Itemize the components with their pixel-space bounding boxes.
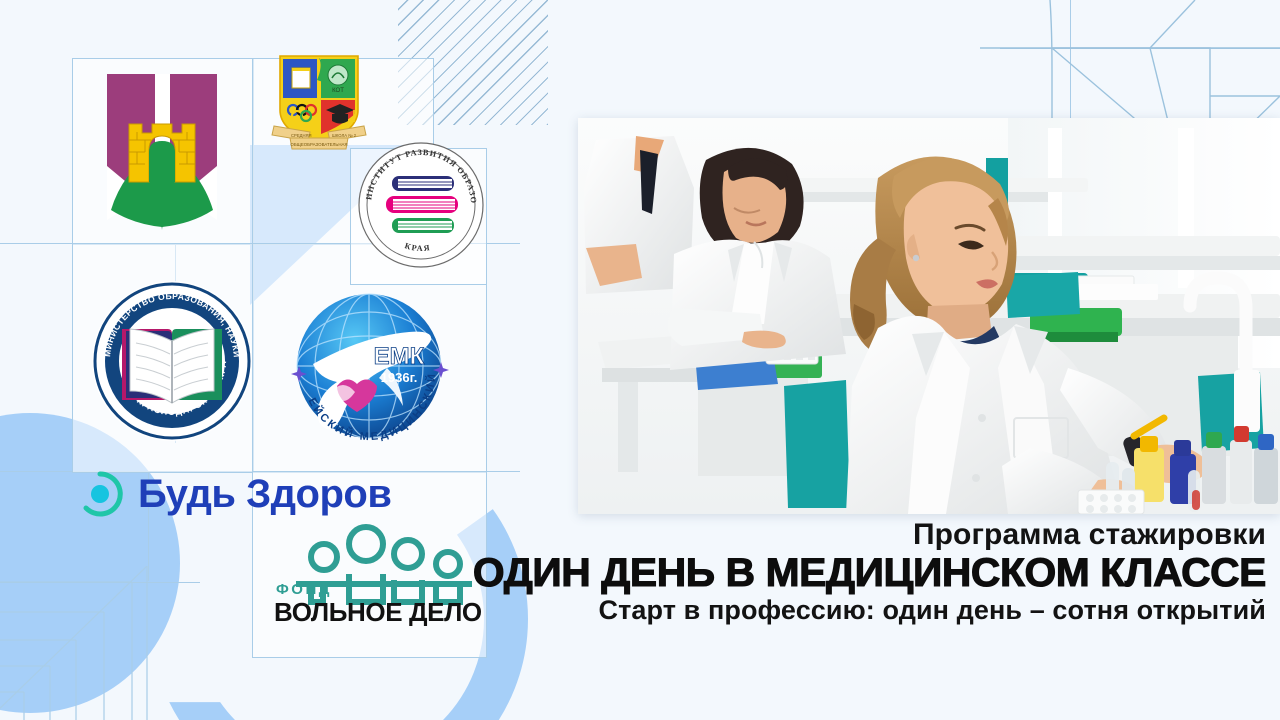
- bud-zdorov-wordmark: Будь Здоров: [138, 474, 391, 514]
- svg-text:ОБЩЕОБРАЗОВАТЕЛЬНАЯ: ОБЩЕОБРАЗОВАТЕЛЬНАЯ: [290, 142, 347, 147]
- program-title: ОДИН ДЕНЬ В МЕДИЦИНСКОМ КЛАССЕ: [266, 553, 1266, 593]
- poster-canvas: КОТ СРЕДНЯЯ ШКОЛА № 2 ОБЩЕОБРАЗОВАТЕЛЬНА…: [0, 0, 1280, 720]
- bud-zdorov-ring-icon: [74, 468, 126, 520]
- logo-coat-of-arms-krasnodar-icon: [103, 70, 221, 230]
- svg-text:ЕМК: ЕМК: [374, 343, 425, 370]
- logo-bud-zdorov: Будь Здоров: [74, 466, 364, 522]
- decor-lineart-bottomleft: [0, 566, 242, 720]
- program-subtitle: Старт в профессию: один день – сотня отк…: [286, 596, 1266, 624]
- logo-ministry-education-krasnodar-icon: МИНИСТЕРСТВО ОБРАЗОВАНИЯ, НАУКИ И МОЛОДЁ…: [88, 277, 256, 445]
- logo-eysk-medical-college-icon: ЕМК 1936г. ЕЙСКИЙ МЕДИЦИНСКИЙ КОЛЛЕДЖ: [283, 282, 455, 454]
- svg-text:КОТ: КОТ: [332, 88, 344, 94]
- svg-text:СРЕДНЯЯ: СРЕДНЯЯ: [291, 133, 312, 138]
- headline-block: Программа стажировки ОДИН ДЕНЬ В МЕДИЦИН…: [286, 520, 1266, 624]
- logo-iro-krasnodar-icon: ИНСТИТУТ РАЗВИТИЯ ОБРАЗОВАНИЯ КРАСНОДАРС…: [352, 136, 490, 274]
- svg-text:1936г.: 1936г.: [381, 370, 418, 385]
- program-kicker: Программа стажировки: [286, 520, 1266, 551]
- lab-students-photo: [578, 118, 1280, 514]
